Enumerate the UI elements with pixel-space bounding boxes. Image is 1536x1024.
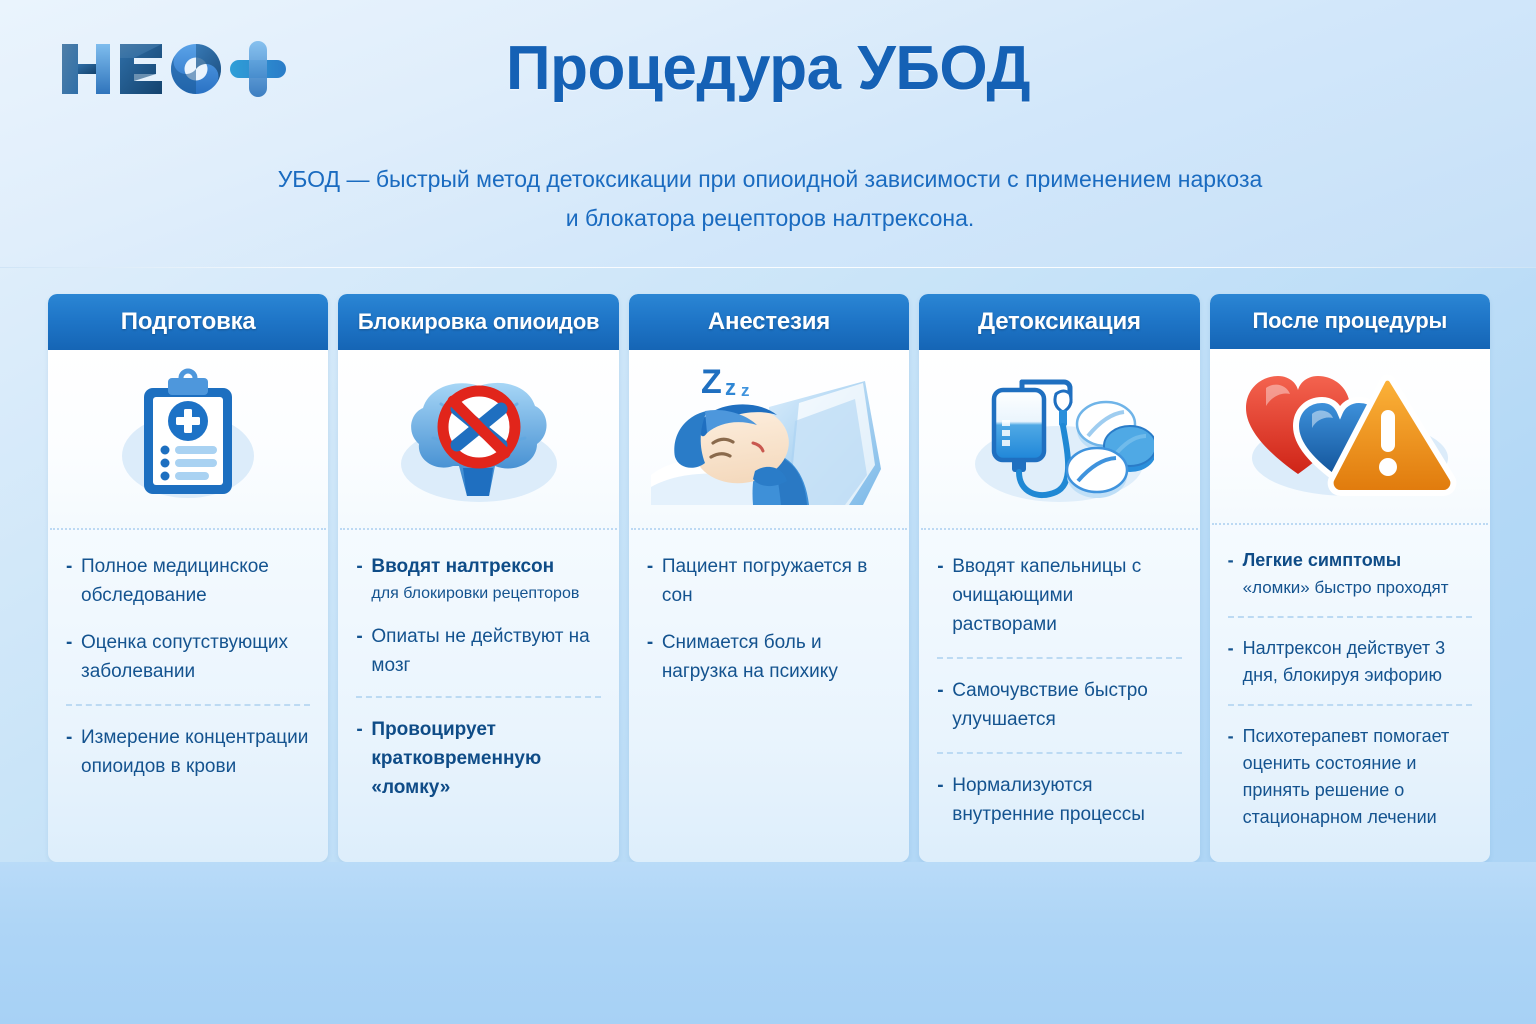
list-item-strong: Провоцирует кратковременную «ломку» bbox=[371, 719, 541, 798]
step-body-anesthesia: - Пациент погружается в сон - Снимается … bbox=[629, 530, 909, 862]
list-item: - Пациент погружается в сон bbox=[647, 552, 891, 610]
list-item-text: Вводят налтрексон для блокировки рецепто… bbox=[371, 552, 600, 606]
list-item-subtext: «ломки» быстро проходят bbox=[1243, 575, 1472, 601]
list-item-text: Самочувствие быстро улучшается bbox=[952, 676, 1181, 734]
steps-row: Подготовка - Полн bbox=[48, 294, 1490, 862]
subtitle-line-1: УБОД — быстрый метод детоксикации при оп… bbox=[180, 160, 1360, 199]
bullet-dash: - bbox=[937, 676, 952, 734]
step-icon-preparation bbox=[48, 350, 328, 528]
item-divider bbox=[66, 704, 310, 706]
hearts-warning-icon bbox=[1240, 366, 1460, 506]
list-item-text: Пациент погружается в сон bbox=[662, 552, 891, 610]
icon-divider bbox=[631, 528, 907, 530]
list-item: - Опиаты не действуют на мозг bbox=[356, 622, 600, 680]
step-header-aftercare: После процедуры bbox=[1210, 294, 1490, 349]
list-item: - Психотерапевт помогает оценить состоян… bbox=[1228, 723, 1472, 831]
step-card-preparation[interactable]: Подготовка - Полн bbox=[48, 294, 328, 862]
list-item-text: Измерение концентрации опиоидов в крови bbox=[81, 723, 310, 781]
list-item-text: Нормализуются внутренние процессы bbox=[952, 771, 1181, 829]
list-item: - Вводят налтрексон для блокировки рецеп… bbox=[356, 552, 600, 606]
item-divider bbox=[1228, 704, 1472, 706]
step-body-detox: - Вводят капельницы с очищающими раствор… bbox=[919, 530, 1199, 862]
list-item: - Легкие симптомы «ломки» быстро проходя… bbox=[1228, 547, 1472, 601]
step-header-preparation: Подготовка bbox=[48, 294, 328, 350]
list-item-text: Полное медицинское обследование bbox=[81, 552, 310, 610]
list-item-text: Провоцирует кратковременную «ломку» bbox=[371, 715, 600, 802]
list-item-text: Вводят капельницы с очищающими растворам… bbox=[952, 552, 1181, 639]
page-title: Процедура УБОД bbox=[0, 33, 1536, 104]
list-item: - Полное медицинское обследование bbox=[66, 552, 310, 610]
list-item-text: Оценка сопутствующих заболевании bbox=[81, 628, 310, 686]
bullet-dash: - bbox=[937, 771, 952, 829]
list-item: - Провоцирует кратковременную «ломку» bbox=[356, 715, 600, 802]
icon-divider bbox=[340, 528, 616, 530]
svg-text:z: z bbox=[725, 375, 736, 400]
step-header-detox: Детоксикация bbox=[919, 294, 1199, 350]
icon-divider bbox=[1212, 523, 1488, 525]
bullet-dash: - bbox=[937, 552, 952, 639]
list-item: - Вводят капельницы с очищающими раствор… bbox=[937, 552, 1181, 639]
clipboard-medical-icon bbox=[113, 364, 263, 514]
bullet-dash: - bbox=[356, 622, 371, 680]
sleeping-patient-icon: Z z z bbox=[649, 359, 889, 519]
bullet-dash: - bbox=[356, 715, 371, 802]
list-item-subtext: для блокировки рецепторов bbox=[371, 582, 600, 606]
list-item-text: Легкие симптомы «ломки» быстро проходят bbox=[1243, 547, 1472, 601]
footer-band bbox=[0, 862, 1536, 1024]
step-icon-anesthesia: Z z z bbox=[629, 350, 909, 528]
item-divider bbox=[1228, 616, 1472, 618]
icon-divider bbox=[50, 528, 326, 530]
bullet-dash: - bbox=[66, 552, 81, 610]
step-icon-opioid-block bbox=[338, 350, 618, 528]
step-header-opioid-block: Блокировка опиоидов bbox=[338, 294, 618, 350]
step-header-anesthesia: Анестезия bbox=[629, 294, 909, 350]
iv-drip-pills-icon bbox=[964, 364, 1154, 514]
sleep-zzz-label: Z bbox=[701, 363, 722, 401]
step-body-preparation: - Полное медицинское обследование - Оцен… bbox=[48, 530, 328, 862]
list-item: - Нормализуются внутренние процессы bbox=[937, 771, 1181, 829]
step-card-aftercare[interactable]: После процедуры bbox=[1210, 294, 1490, 862]
step-card-anesthesia[interactable]: Анестезия bbox=[629, 294, 909, 862]
list-item-text: Опиаты не действуют на мозг bbox=[371, 622, 600, 680]
bullet-dash: - bbox=[1228, 547, 1243, 601]
list-item: - Измерение концентрации опиоидов в кров… bbox=[66, 723, 310, 781]
bullet-dash: - bbox=[1228, 723, 1243, 831]
bullet-dash: - bbox=[66, 723, 81, 781]
step-icon-detox bbox=[919, 350, 1199, 528]
step-icon-aftercare bbox=[1210, 349, 1490, 523]
list-item: - Снимается боль и нагрузка на психику bbox=[647, 628, 891, 686]
bullet-dash: - bbox=[1228, 635, 1243, 689]
bullet-dash: - bbox=[647, 628, 662, 686]
item-divider bbox=[356, 696, 600, 698]
list-item-strong: Легкие симптомы bbox=[1243, 550, 1402, 570]
subtitle-line-2: и блокатора рецепторов налтрексона. bbox=[180, 199, 1360, 238]
page-subtitle: УБОД — быстрый метод детоксикации при оп… bbox=[180, 160, 1360, 238]
list-item-text: Налтрексон действует 3 дня, блокируя эиф… bbox=[1243, 635, 1472, 689]
item-divider bbox=[937, 752, 1181, 754]
item-divider bbox=[937, 657, 1181, 659]
bullet-dash: - bbox=[356, 552, 371, 606]
step-body-aftercare: - Легкие симптомы «ломки» быстро проходя… bbox=[1210, 525, 1490, 862]
step-card-opioid-block[interactable]: Блокировка опиоидов bbox=[338, 294, 618, 862]
step-body-opioid-block: - Вводят налтрексон для блокировки рецеп… bbox=[338, 530, 618, 862]
list-item: - Налтрексон действует 3 дня, блокируя э… bbox=[1228, 635, 1472, 689]
list-item: - Оценка сопутствующих заболевании bbox=[66, 628, 310, 686]
brain-blocked-icon bbox=[389, 364, 569, 514]
step-card-detox[interactable]: Детоксикация bbox=[919, 294, 1199, 862]
list-item: - Самочувствие быстро улучшается bbox=[937, 676, 1181, 734]
list-item-text: Психотерапевт помогает оценить состояние… bbox=[1243, 723, 1472, 831]
list-item-text: Снимается боль и нагрузка на психику bbox=[662, 628, 891, 686]
svg-text:z: z bbox=[741, 381, 750, 400]
bullet-dash: - bbox=[647, 552, 662, 610]
list-item-strong: Вводят налтрексон bbox=[371, 556, 554, 577]
bullet-dash: - bbox=[66, 628, 81, 686]
icon-divider bbox=[921, 528, 1197, 530]
